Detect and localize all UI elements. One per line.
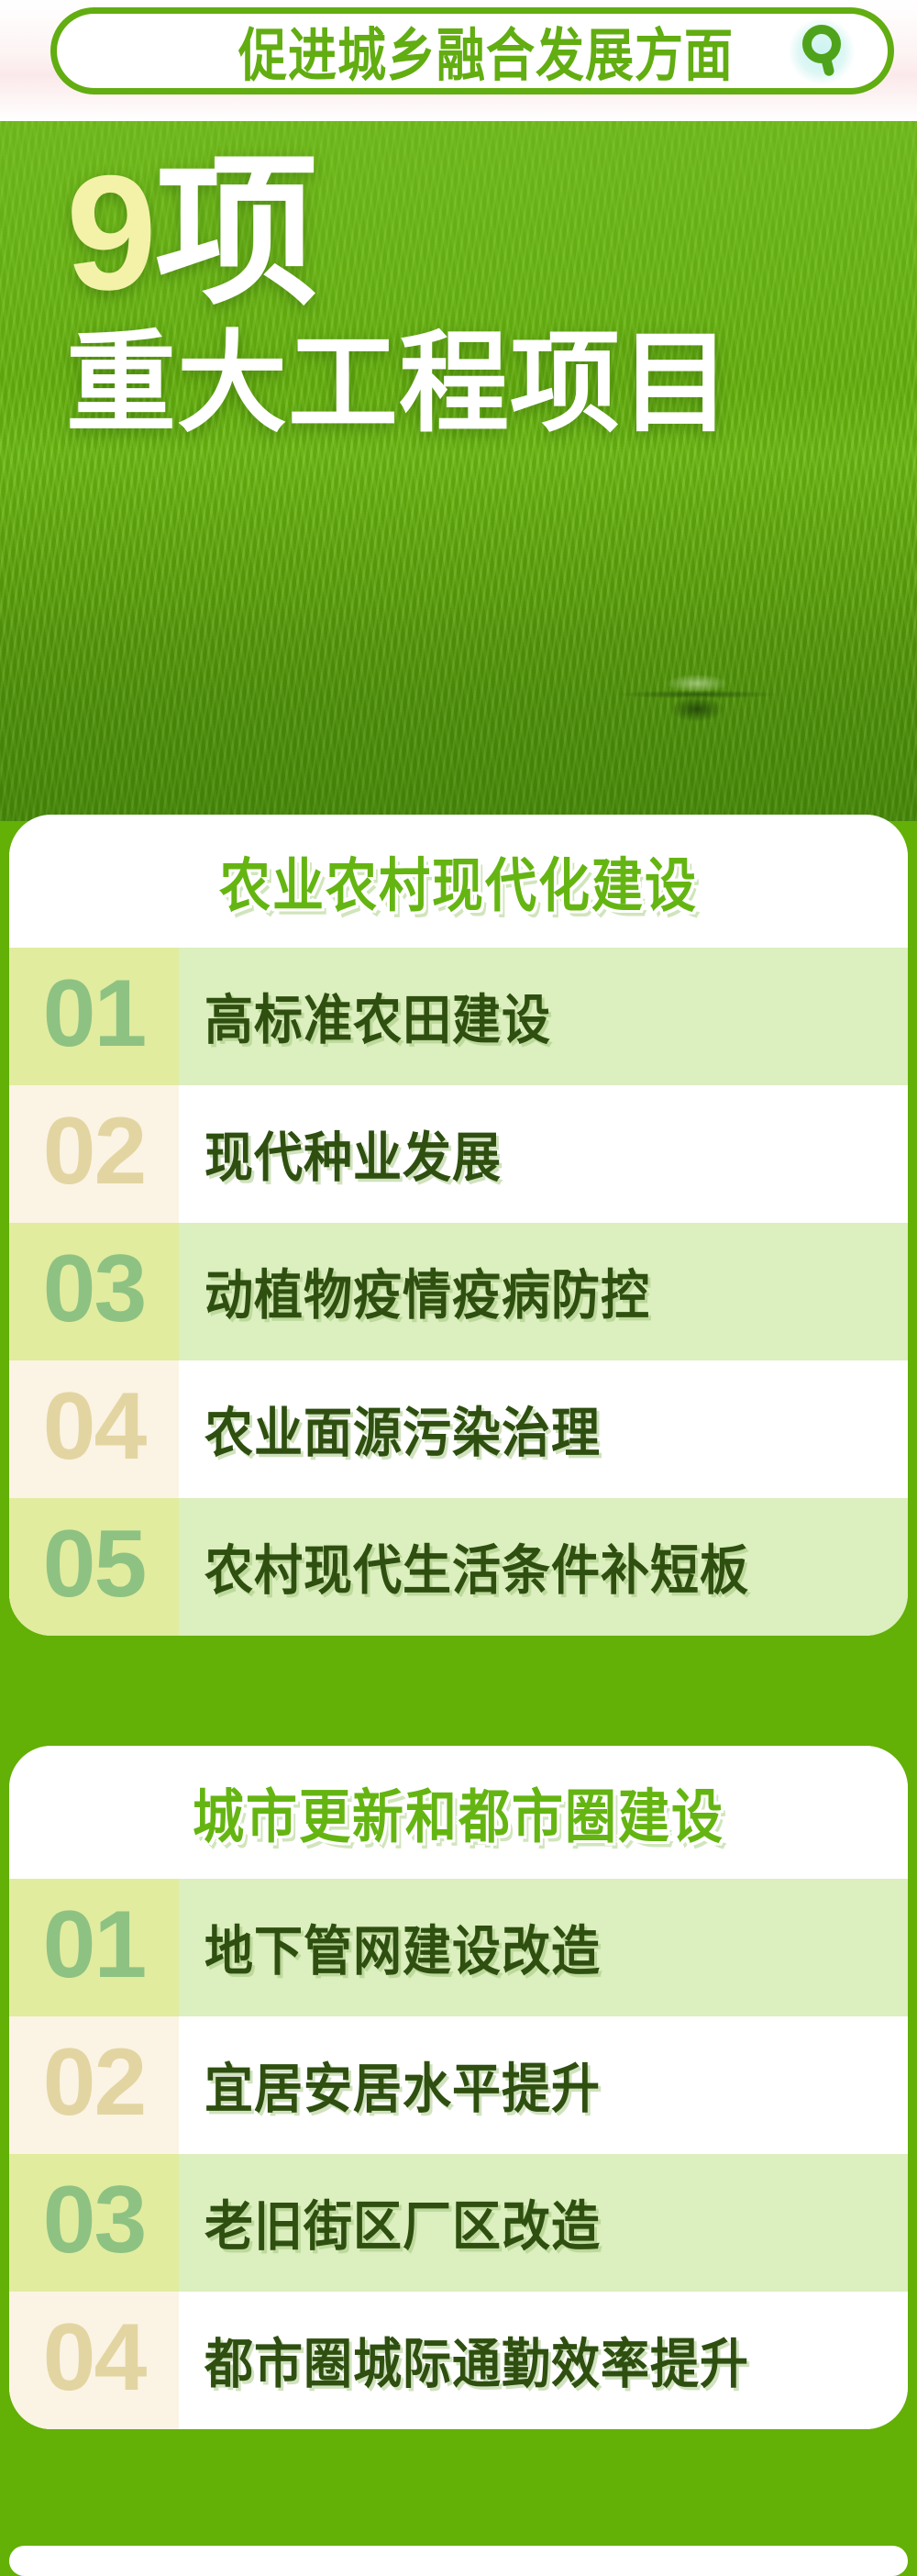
list-item-label: 老旧街区厂区改造 [179,2184,908,2261]
list-item-number: 04 [9,2292,179,2429]
hero-count-unit: 项 [155,141,316,324]
list-item[interactable]: 03 动植物疫情疫病防控 [9,1223,908,1360]
list-item-number: 02 [9,2016,179,2154]
list-item-number: 03 [9,1223,179,1360]
list-item[interactable]: 04 农业面源污染治理 [9,1360,908,1498]
list-item-number: 04 [9,1360,179,1498]
list-item-label: 现代种业发展 [179,1116,908,1193]
list-item[interactable]: 01 高标准农田建设 [9,948,908,1085]
hero-text-block: 9项 重大工程项目 [66,151,732,441]
list-item-label: 地下管网建设改造 [179,1909,908,1986]
list-item[interactable]: 05 农村现代生活条件补短板 [9,1498,908,1636]
search-icon-glyph [801,25,843,78]
infographic-page: 促进城乡融合发展方面 9项 重大工程项目 农业农村现代化建设 01 高标准农田 [0,0,917,2576]
list-item[interactable]: 02 现代种业发展 [9,1085,908,1223]
list-item-label: 宜居安居水平提升 [179,2047,908,2124]
card-title-bar: 农业农村现代化建设 [9,815,908,948]
list-item-label: 都市圈城际通勤效率提升 [179,2322,908,2399]
list-item[interactable]: 02 宜居安居水平提升 [9,2016,908,2154]
hero-count: 9 [66,141,155,324]
list-item-number: 01 [9,948,179,1085]
list-item-number: 05 [9,1498,179,1636]
list-item[interactable]: 03 老旧街区厂区改造 [9,2154,908,2292]
list-item-label: 高标准农田建设 [179,978,908,1055]
card-row-list: 01 地下管网建设改造 02 宜居安居水平提升 03 老旧街区厂区改造 04 都… [9,1879,908,2429]
list-item[interactable]: 04 都市圈城际通勤效率提升 [9,2292,908,2429]
section-card-next-partial [9,2546,908,2576]
list-item-label: 动植物疫情疫病防控 [179,1253,908,1330]
list-item-label: 农业面源污染治理 [179,1391,908,1468]
list-item-label: 农村现代生活条件补短板 [179,1528,908,1605]
section-card-urban: 城市更新和都市圈建设 01 地下管网建设改造 02 宜居安居水平提升 03 老旧… [9,1746,908,2429]
list-item-number: 03 [9,2154,179,2292]
card-title-bar: 城市更新和都市圈建设 [9,1746,908,1879]
hero-subtitle: 重大工程项目 [66,326,732,441]
section-card-agriculture: 农业农村现代化建设 01 高标准农田建设 02 现代种业发展 03 动植物疫情疫… [9,815,908,1636]
list-item-number: 02 [9,1085,179,1223]
card-title: 农业农村现代化建设 [219,838,698,923]
card-title: 城市更新和都市圈建设 [193,1770,724,1854]
card-title-bar [9,2546,908,2576]
header-pill: 促进城乡融合发展方面 [50,7,894,94]
hero-banner: 9项 重大工程项目 [0,115,917,821]
hero-count-line: 9项 [66,151,732,315]
card-row-list: 01 高标准农田建设 02 现代种业发展 03 动植物疫情疫病防控 04 农业面… [9,948,908,1636]
search-icon[interactable] [789,18,855,84]
list-item-number: 01 [9,1879,179,2016]
list-item[interactable]: 01 地下管网建设改造 [9,1879,908,2016]
page-title: 促进城乡融合发展方面 [238,10,734,93]
